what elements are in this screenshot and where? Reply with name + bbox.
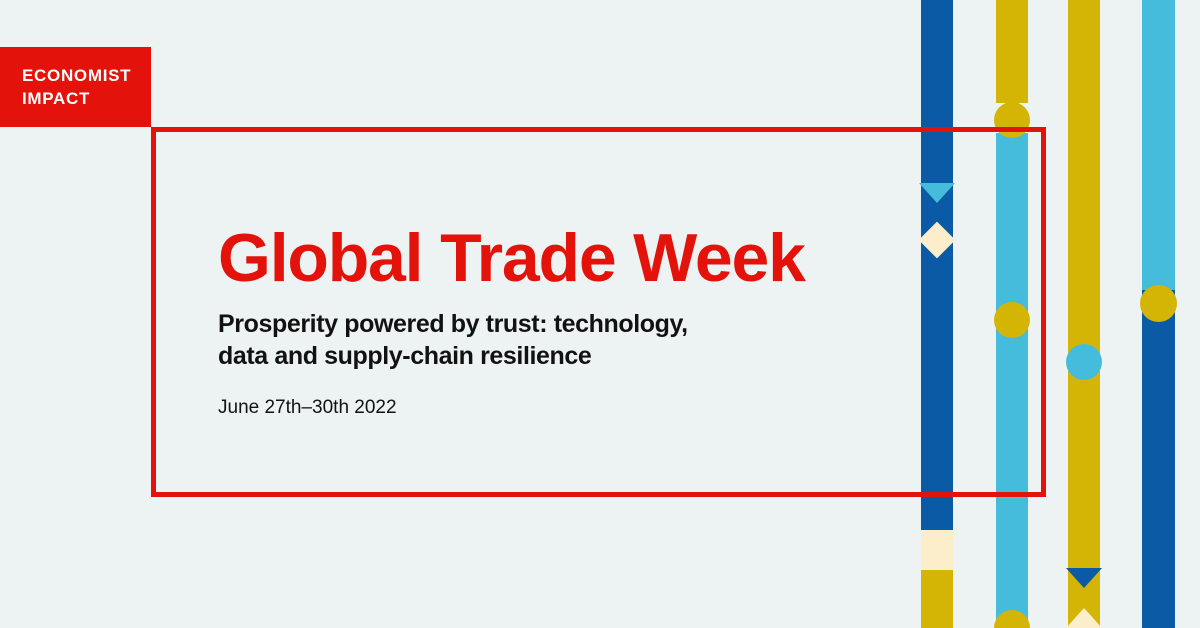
- circle-icon: [1066, 344, 1102, 380]
- event-date: June 27th–30th 2022: [218, 396, 838, 420]
- bar-segment-cream: [921, 530, 953, 570]
- poster-canvas: ECONOMIST IMPACT Global Trade Week Prosp…: [0, 0, 1200, 628]
- bar-segment-cyan: [1142, 0, 1175, 290]
- logo-line-economist: ECONOMIST: [22, 64, 151, 87]
- bar-segment-gold: [1068, 0, 1100, 628]
- economist-impact-logo[interactable]: ECONOMIST IMPACT: [0, 47, 151, 127]
- decorative-bar-3: [1068, 0, 1100, 628]
- triangle-down-icon: [1066, 568, 1102, 588]
- page-title: Global Trade Week: [218, 222, 838, 294]
- decorative-bar-4: [1142, 0, 1175, 628]
- circle-icon: [1140, 285, 1177, 322]
- triangle-up-icon: [1066, 608, 1102, 628]
- bar-segment-blue: [1142, 290, 1175, 628]
- logo-line-impact: IMPACT: [22, 87, 151, 110]
- bar-segment-gold: [921, 570, 953, 628]
- hero-text-block: Global Trade Week Prosperity powered by …: [218, 222, 838, 420]
- page-subtitle: Prosperity powered by trust: technology,…: [218, 308, 708, 372]
- bar-segment-gold: [996, 0, 1028, 103]
